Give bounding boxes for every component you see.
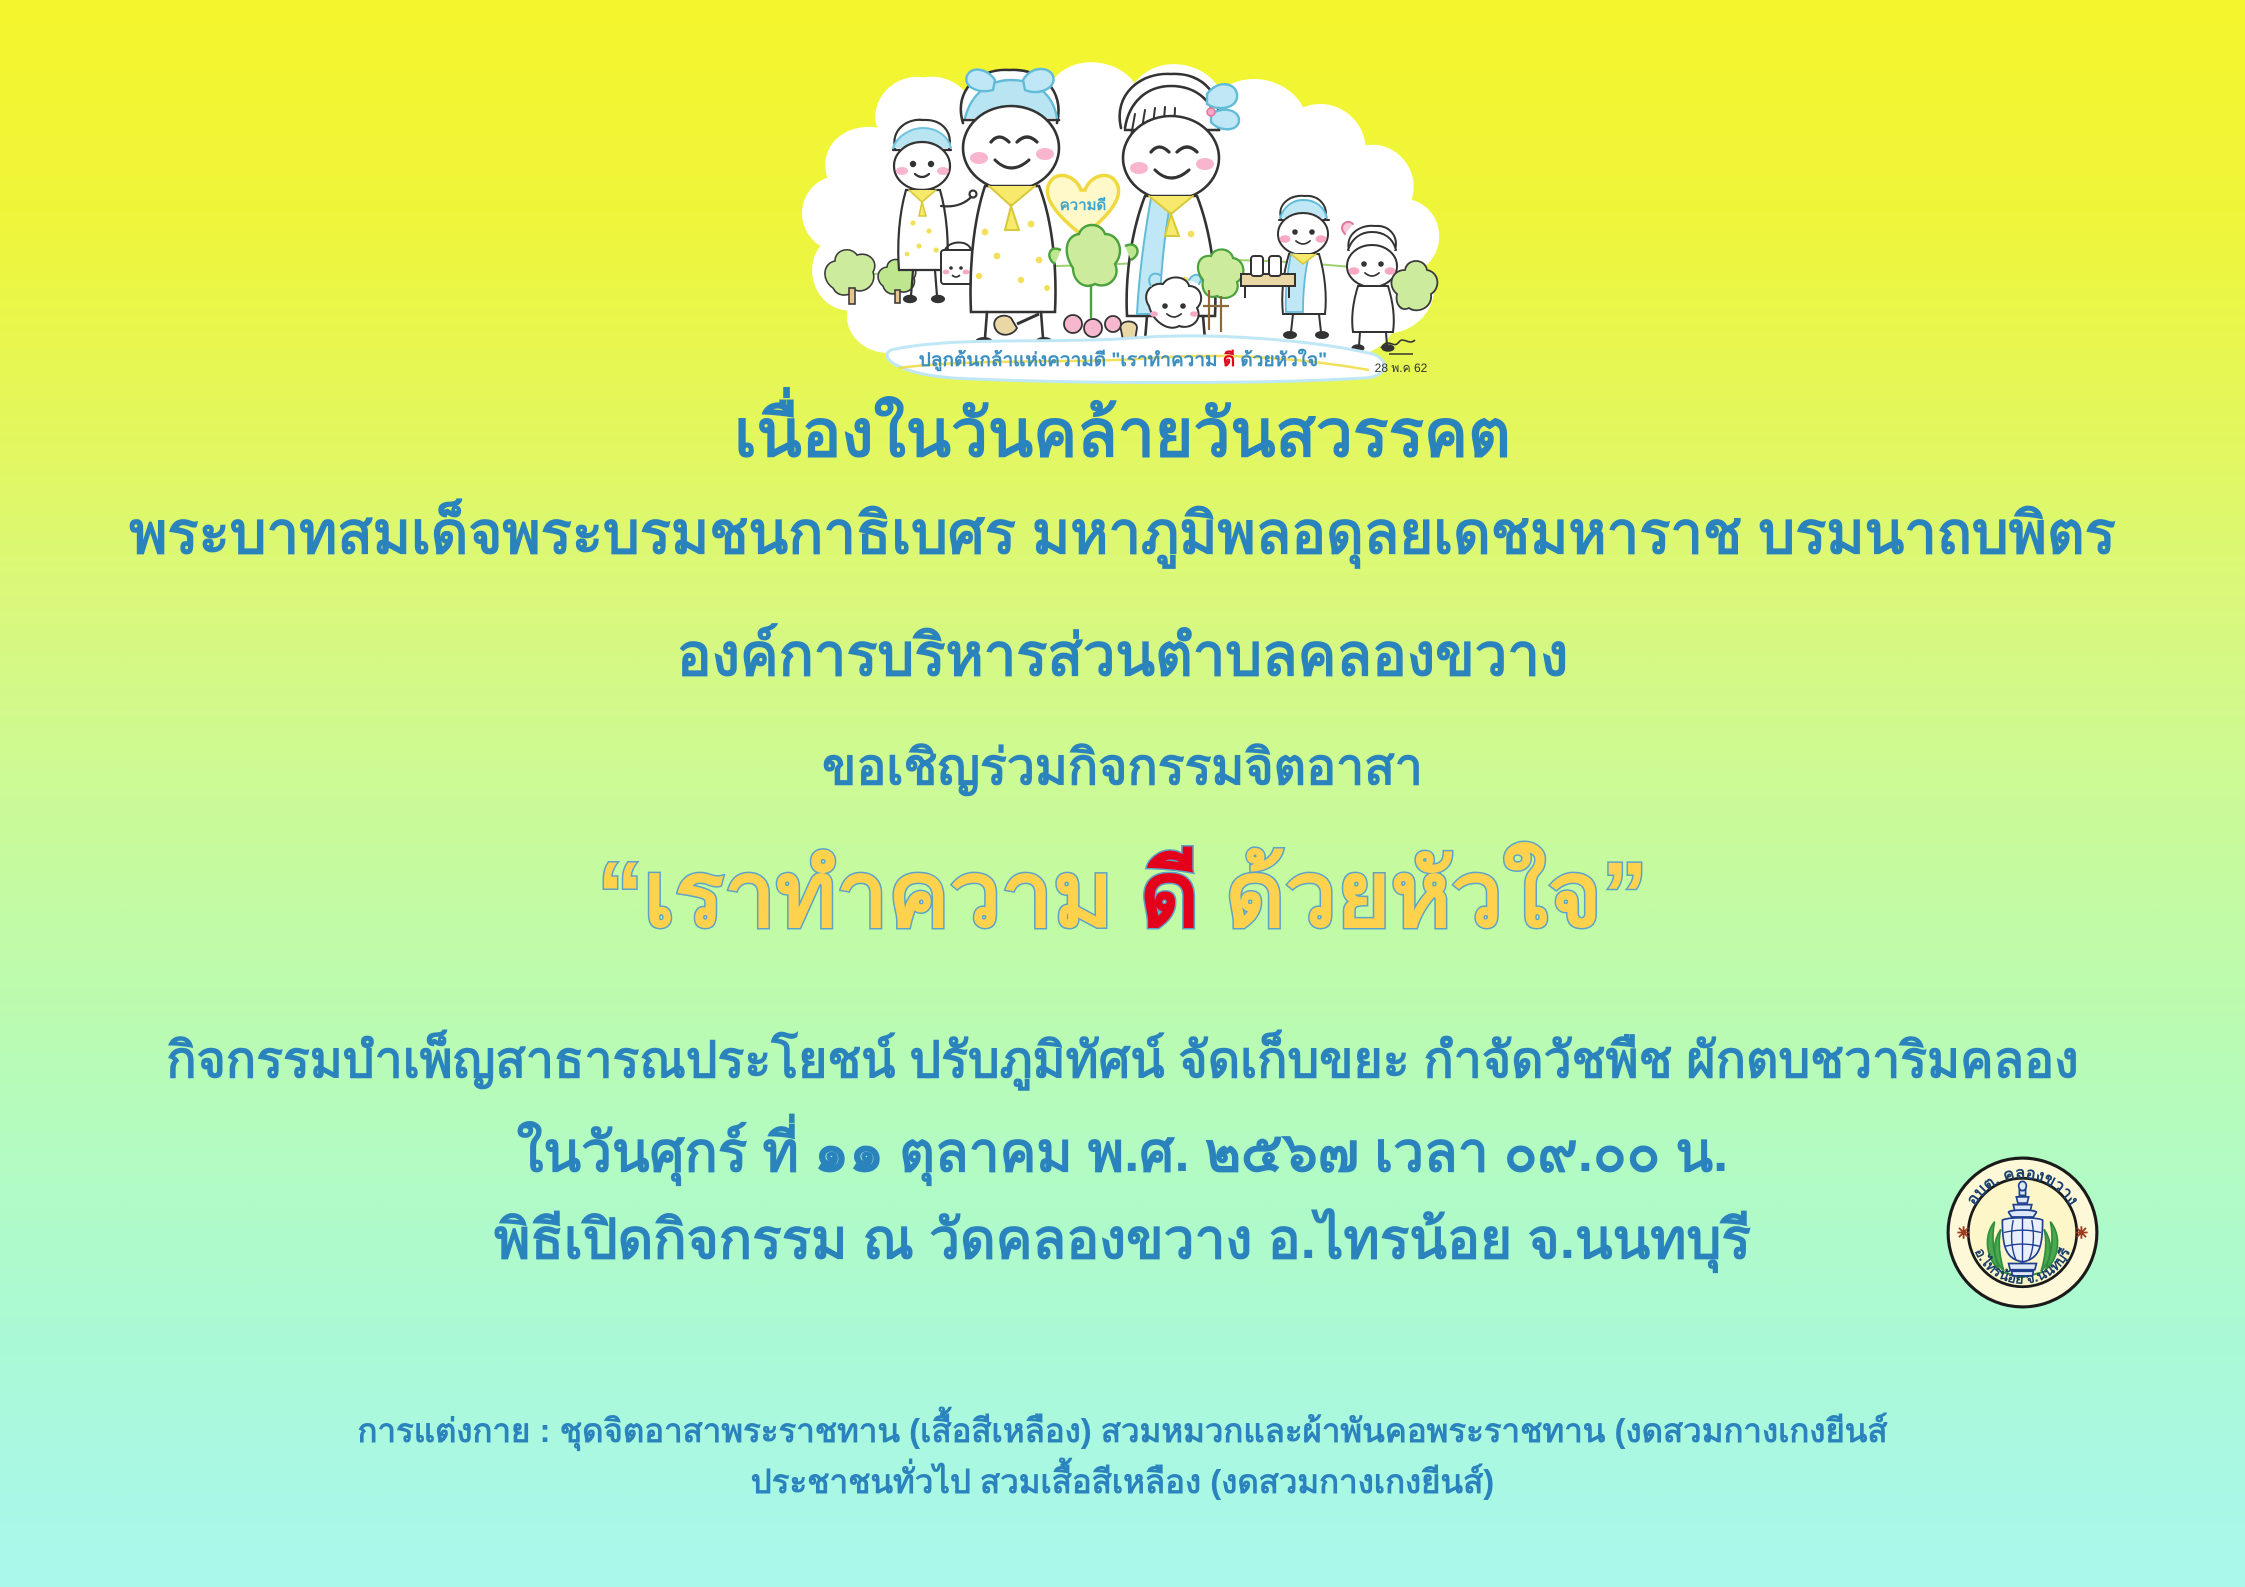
slogan-close-quote: ” bbox=[1602, 844, 1648, 946]
event-venue: พิธีเปิดกิจกรรม ณ วัดคลองขวาง อ.ไทรน้อย … bbox=[0, 1212, 2245, 1267]
svg-text:ปลูกต้นกล้าแห่งความดี "เราทำค: ปลูกต้นกล้าแห่งความดี "เราทำความ ดี ด้วย… bbox=[918, 348, 1326, 372]
headline-invitation: ขอเชิญร่วมกิจกรรมจิตอาสา bbox=[0, 742, 2245, 792]
headline-organization: องค์การบริหารส่วนตำบลคลองขวาง bbox=[0, 627, 2245, 685]
volunteer-illustration: ความดี bbox=[773, 18, 1473, 390]
event-poster: ความดี bbox=[0, 0, 2245, 1587]
dress-code-note: การแต่งกาย : ชุดจิตอาสาพระราชทาน (เสื้อส… bbox=[0, 1405, 2245, 1507]
slogan: “เราทำความดีด้วยหัวใจ” bbox=[0, 845, 2245, 946]
slogan-open-quote: “ bbox=[597, 844, 643, 946]
headline-royal-title: พระบาทสมเด็จพระบรมชนกาธิเบศร มหาภูมิพลอด… bbox=[0, 505, 2245, 563]
slogan-part-1: เราทำความ bbox=[643, 844, 1113, 946]
dress-code-line-1: การแต่งกาย : ชุดจิตอาสาพระราชทาน (เสื้อส… bbox=[0, 1405, 2245, 1456]
activity-description: กิจกรรมบำเพ็ญสาธารณประโยชน์ ปรับภูมิทัศน… bbox=[0, 1035, 2245, 1085]
slogan-highlight-word: ดี bbox=[1140, 844, 1200, 946]
svg-text:28 พ.ค 62: 28 พ.ค 62 bbox=[1374, 361, 1427, 375]
organization-seal: อบต. คลองขวาง อ.ไทรน้อย จ.นนทบุรี bbox=[1945, 1155, 2100, 1310]
slogan-part-2: ด้วยหัวใจ bbox=[1225, 844, 1601, 946]
svg-text:ความดี: ความดี bbox=[1059, 197, 1106, 214]
dress-code-line-2: ประชาชนทั่วไป สวมเสื้อสีเหลือง (งดสวมกาง… bbox=[0, 1456, 2245, 1507]
event-datetime: ในวันศุกร์ ที่ ๑๑ ตุลาคม พ.ศ. ๒๕๖๗ เวลา … bbox=[0, 1125, 2245, 1180]
headline-occasion: เนื่องในวันคล้ายวันสวรรคต bbox=[0, 400, 2245, 466]
